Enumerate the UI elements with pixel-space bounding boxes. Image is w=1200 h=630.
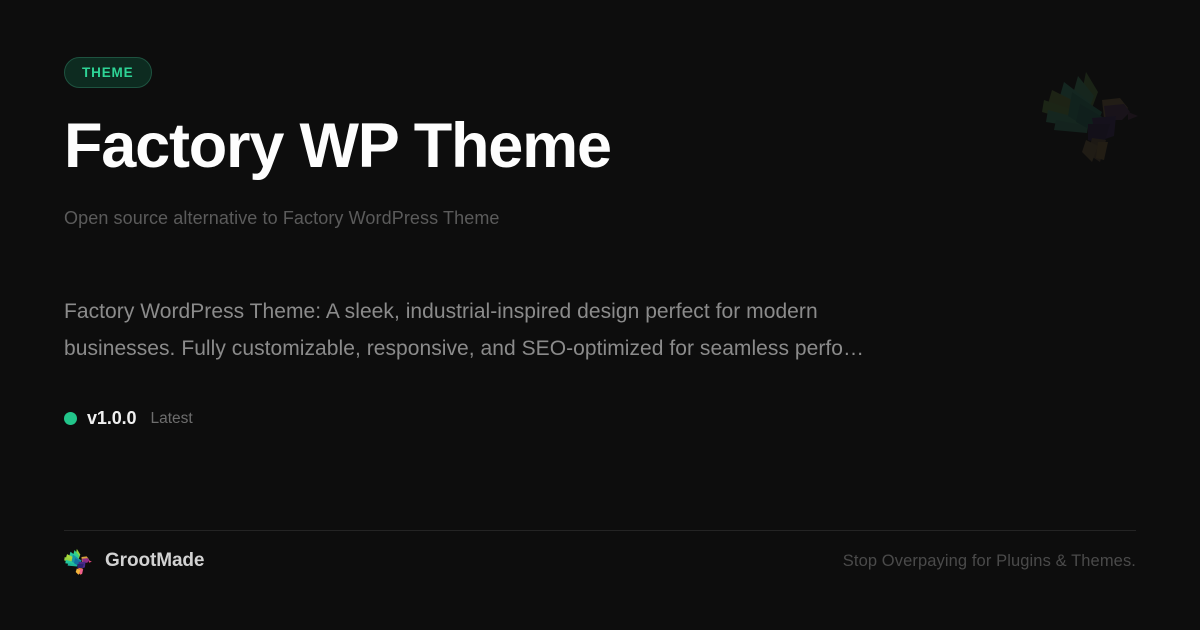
footer-tagline: Stop Overpaying for Plugins & Themes. bbox=[843, 552, 1136, 571]
version-label: v1.0.0 bbox=[87, 408, 136, 429]
bird-logo-icon bbox=[64, 546, 92, 576]
brand: GrootMade bbox=[64, 546, 204, 576]
page-title: Factory WP Theme bbox=[64, 113, 1136, 180]
footer: GrootMade Stop Overpaying for Plugins & … bbox=[64, 544, 1136, 578]
brand-name: GrootMade bbox=[105, 550, 204, 572]
badge-row: THEME bbox=[64, 56, 1136, 88]
status-badge: THEME bbox=[64, 57, 152, 88]
release-tag-label: Latest bbox=[150, 410, 192, 428]
release-info: v1.0.0 Latest bbox=[64, 408, 1136, 430]
description-text: Factory WordPress Theme: A sleek, indust… bbox=[64, 293, 926, 368]
open-graph-card: THEME Factory WP Theme Open source alter… bbox=[0, 0, 1200, 630]
page-subtitle: Open source alternative to Factory WordP… bbox=[64, 206, 1136, 231]
status-dot-icon bbox=[64, 412, 77, 425]
footer-divider bbox=[64, 530, 1136, 531]
